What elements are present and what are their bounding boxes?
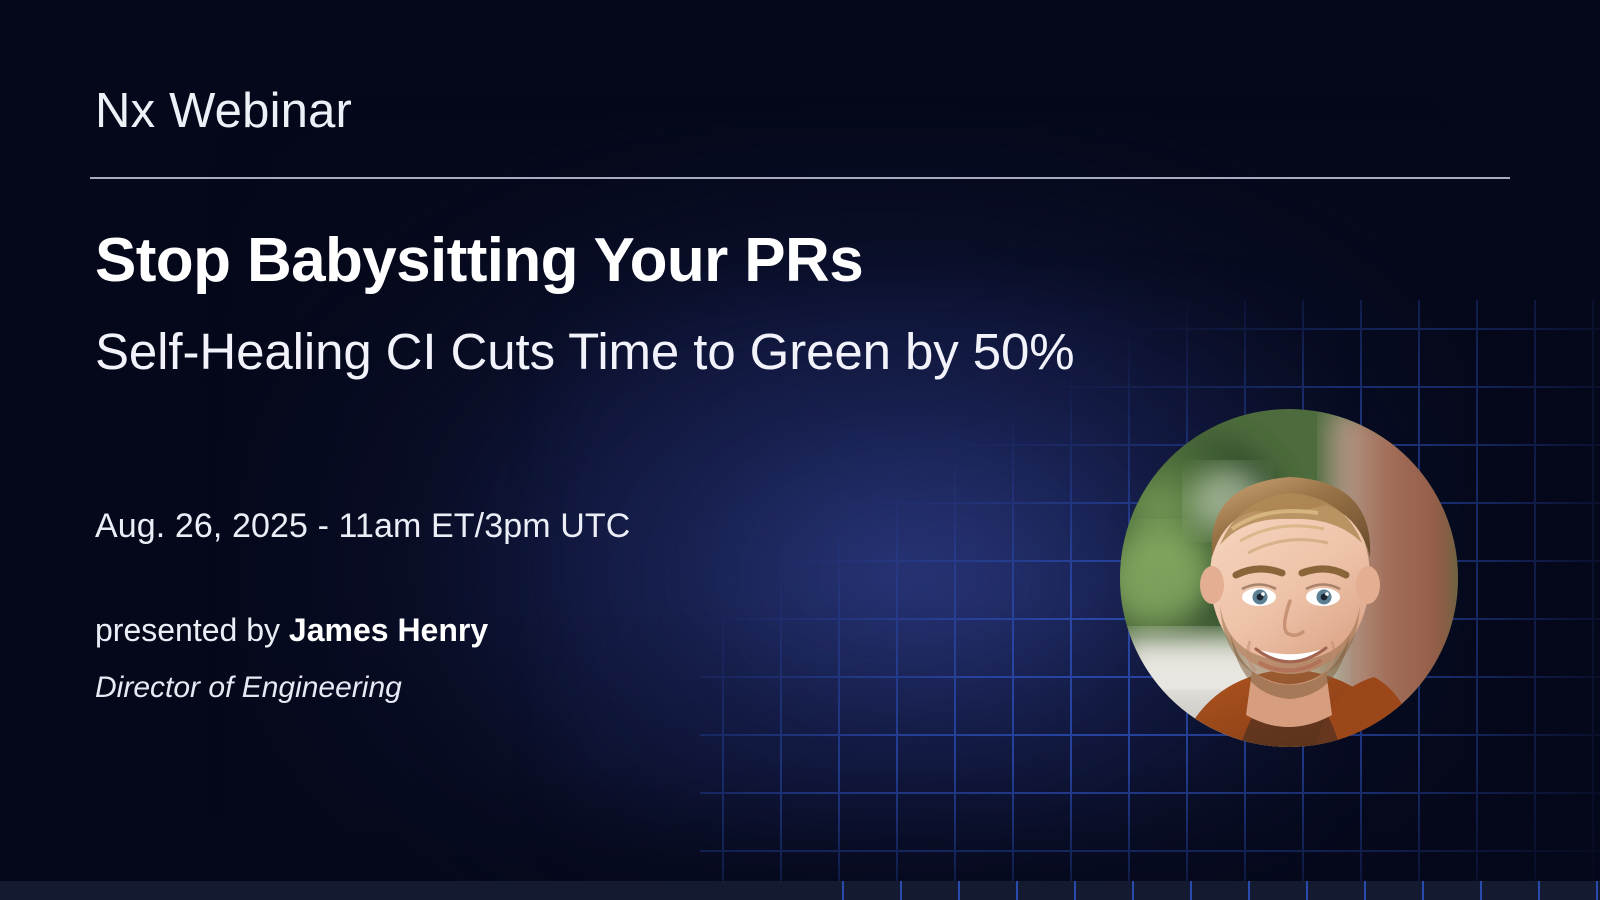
eyebrow-label: Nx Webinar xyxy=(95,86,352,137)
presented-by-prefix: presented by xyxy=(95,612,289,648)
webinar-banner: Nx Webinar Stop Babysitting Your PRs Sel… xyxy=(0,0,1600,900)
presenter-line: presented by James Henry xyxy=(95,610,488,650)
page-subtitle: Self-Healing CI Cuts Time to Green by 50… xyxy=(95,315,1095,389)
presenter-role: Director of Engineering xyxy=(95,669,402,707)
presenter-name: James Henry xyxy=(289,612,488,648)
page-title: Stop Babysitting Your PRs xyxy=(95,228,863,294)
bottom-band xyxy=(0,881,1600,900)
bottom-band-grid-decoration xyxy=(0,881,1600,900)
event-datetime: Aug. 26, 2025 - 11am ET/3pm UTC xyxy=(95,506,630,547)
header-divider xyxy=(90,177,1510,179)
avatar-photo-icon xyxy=(1120,409,1458,747)
avatar xyxy=(1120,409,1458,747)
